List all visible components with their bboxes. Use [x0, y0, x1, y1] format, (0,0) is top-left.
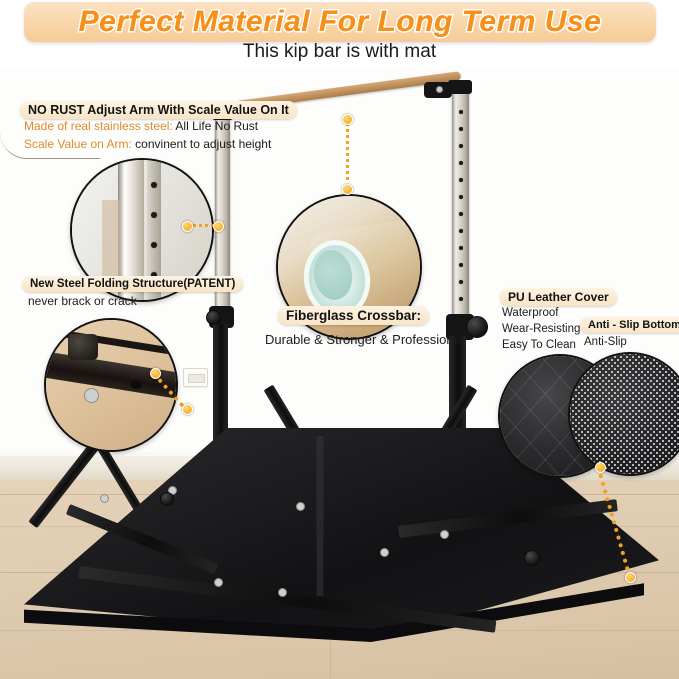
scale-hole: [459, 195, 463, 199]
leader-dot-target: [182, 404, 193, 415]
arm-hole-detail: [151, 212, 157, 218]
folding-joint-detail-circle: [44, 318, 178, 452]
callout-rest: Waterproof: [502, 307, 558, 319]
callout-rest: Durable & Stronger & Professional: [265, 332, 464, 347]
leader-dot-target: [342, 114, 353, 125]
callout-rest: Easy To Clean: [502, 339, 576, 351]
leader-dot-detail: [342, 184, 353, 195]
anti-slip-detail-circle: [568, 352, 679, 476]
right-arm-knob: [466, 316, 488, 338]
callout-line-anti-slip-1: Anti-Slip: [584, 336, 627, 348]
product-photo-scene: NO RUST Adjust Arm With Scale Value On I…: [0, 66, 679, 679]
callout-line-pu-leather-1: Waterproof: [502, 307, 558, 319]
scale-hole: [459, 246, 463, 250]
callout-rest: Anti-Slip: [584, 336, 627, 348]
scale-hole: [459, 229, 463, 233]
header-subtitle: This kip bar is with mat: [0, 41, 679, 63]
base-bolt: [380, 548, 389, 557]
scale-hole: [459, 297, 463, 301]
base-bolt: [278, 588, 287, 597]
scale-hole: [459, 161, 463, 165]
callout-line-no-rust-arm-1: Made of real stainless steel: All Life N…: [24, 119, 258, 133]
callout-rest: never brack or crack: [28, 294, 137, 308]
folding-knob-left: [160, 492, 174, 506]
leader-dot-target: [213, 221, 224, 232]
scale-hole: [459, 127, 463, 131]
callout-line-folding-structure-1: never brack or crack: [28, 294, 137, 308]
scale-hole: [459, 280, 463, 284]
base-bolt: [214, 578, 223, 587]
leader-line-crossbar: [346, 122, 349, 188]
scale-hole: [459, 263, 463, 267]
callout-line-no-rust-arm-2: Scale Value on Arm: convinent to adjust …: [24, 137, 271, 151]
folding-knob: [524, 550, 540, 566]
callout-label-pu-leather-cover: PU Leather Cover: [500, 288, 617, 306]
right-arm-top-cap: [448, 80, 472, 94]
callout-label-folding-structure: New Steel Folding Structure(PATENT): [22, 276, 243, 292]
wall-outlet: [183, 368, 208, 387]
callout-highlight: Made of real stainless steel:: [24, 119, 173, 133]
callout-label-no-rust-arm: NO RUST Adjust Arm With Scale Value On I…: [20, 101, 297, 119]
scale-hole: [459, 212, 463, 216]
callout-rest: Wear-Resisting: [502, 323, 580, 335]
page-title: Perfect Material For Long Term Use: [24, 2, 656, 42]
callout-highlight: Scale Value on Arm:: [24, 137, 132, 151]
joint-bolt-detail: [84, 388, 99, 403]
header-banner: Perfect Material For Long Term Use Perfe…: [24, 2, 656, 42]
leader-dot-detail: [150, 368, 161, 379]
scale-hole: [459, 178, 463, 182]
callout-line-pu-leather-2: Wear-Resisting: [502, 323, 580, 335]
callout-rest: All Life No Rust: [173, 119, 258, 133]
arm-hole-detail: [151, 182, 157, 188]
crossbar-bolt: [436, 86, 443, 93]
scale-hole: [459, 110, 463, 114]
leader-dot-detail: [595, 462, 606, 473]
strut-bolt: [100, 494, 109, 503]
leader-dot-detail: [182, 221, 193, 232]
callout-line-pu-leather-3: Easy To Clean: [502, 339, 576, 351]
callout-label-anti-slip-bottom: Anti - Slip Bottom: [580, 317, 679, 333]
callout-line-fiberglass-crossbar-1: Durable & Stronger & Professional: [265, 332, 464, 347]
strut-bolt: [296, 502, 305, 511]
left-arm-knob: [206, 310, 221, 325]
product-infographic: Perfect Material For Long Term Use Perfe…: [0, 0, 679, 679]
base-bolt: [440, 530, 449, 539]
leader-dot-target: [625, 572, 636, 583]
arm-hole-detail: [151, 242, 157, 248]
callout-label-fiberglass-crossbar: Fiberglass Crossbar:: [278, 306, 429, 325]
scale-hole: [459, 144, 463, 148]
callout-rest: convinent to adjust height: [132, 137, 271, 151]
